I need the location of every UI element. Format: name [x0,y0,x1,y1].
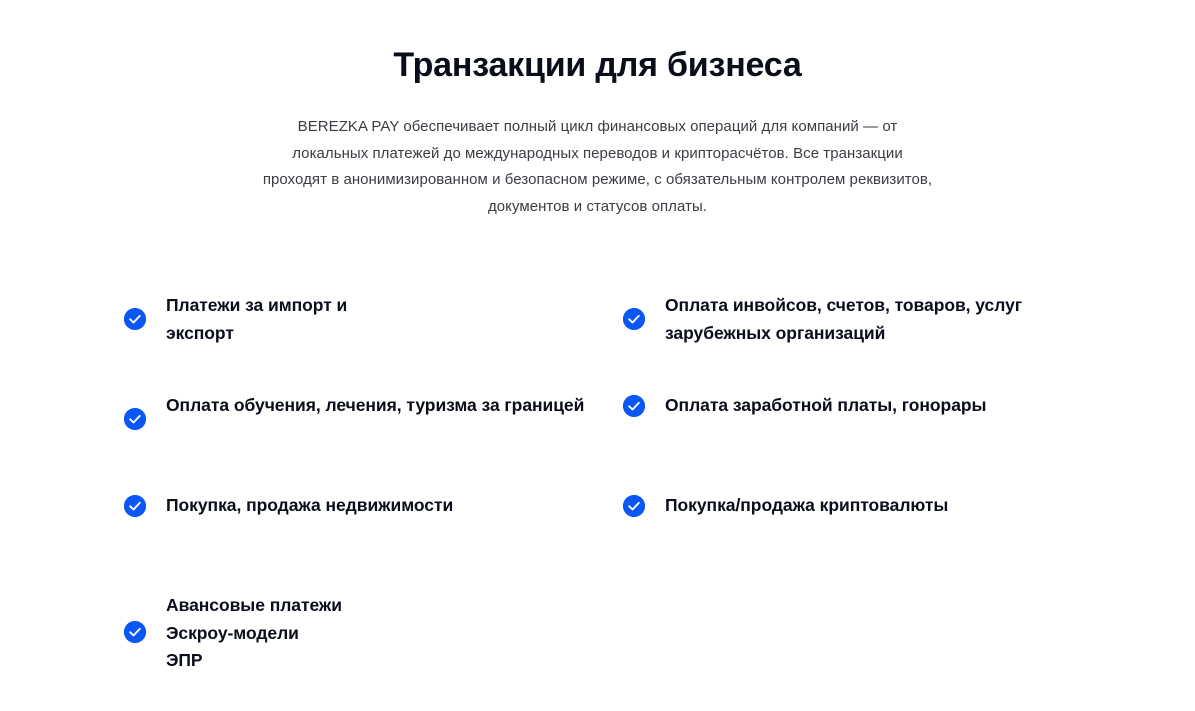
feature-item-crypto[interactable]: Покупка/продажа криптовалюты [623,492,948,520]
feature-item-invoices-goods-services[interactable]: Оплата инвойсов, счетов, товаров, услуг … [623,292,1065,347]
feature-item-label: Оплата инвойсов, счетов, товаров, услуг … [665,292,1065,347]
feature-item-advance-escrow-epr[interactable]: Авансовые платежи Эскроу-модели ЭПР [124,592,342,675]
transactions-for-business-page: Транзакции для бизнеса BEREZKA PAY обесп… [0,0,1195,711]
check-circle-icon [124,308,146,330]
page-title: Транзакции для бизнеса [0,44,1195,86]
feature-item-label-line: Эскроу-модели [166,620,342,648]
check-circle-icon [124,408,146,430]
feature-item-label: Оплата заработной платы, гонорары [665,392,986,420]
check-circle-icon [623,495,645,517]
feature-item-label: Оплата обучения, лечения, туризма за гра… [166,392,584,420]
feature-item-import-export[interactable]: Платежи за импорт и экспорт [124,292,416,347]
page-header: Транзакции для бизнеса BEREZKA PAY обесп… [0,0,1195,220]
feature-item-label-line: Авансовые платежи [166,592,342,620]
intro-paragraph: BEREZKA PAY обеспечивает полный цикл фин… [260,114,936,220]
check-circle-icon [124,621,146,643]
feature-item-real-estate[interactable]: Покупка, продажа недвижимости [124,492,453,520]
feature-item-label-group: Авансовые платежи Эскроу-модели ЭПР [166,592,342,675]
feature-item-label: Покупка/продажа криптовалюты [665,492,948,520]
feature-item-salary-fees[interactable]: Оплата заработной платы, гонорары [623,392,986,420]
feature-item-label: Покупка, продажа недвижимости [166,492,453,520]
check-circle-icon [124,495,146,517]
feature-item-label-line: ЭПР [166,647,342,675]
check-circle-icon [623,308,645,330]
check-circle-icon [623,395,645,417]
feature-item-label: Платежи за импорт и экспорт [166,292,416,347]
feature-item-education-medical-tourism[interactable]: Оплата обучения, лечения, туризма за гра… [124,392,584,430]
